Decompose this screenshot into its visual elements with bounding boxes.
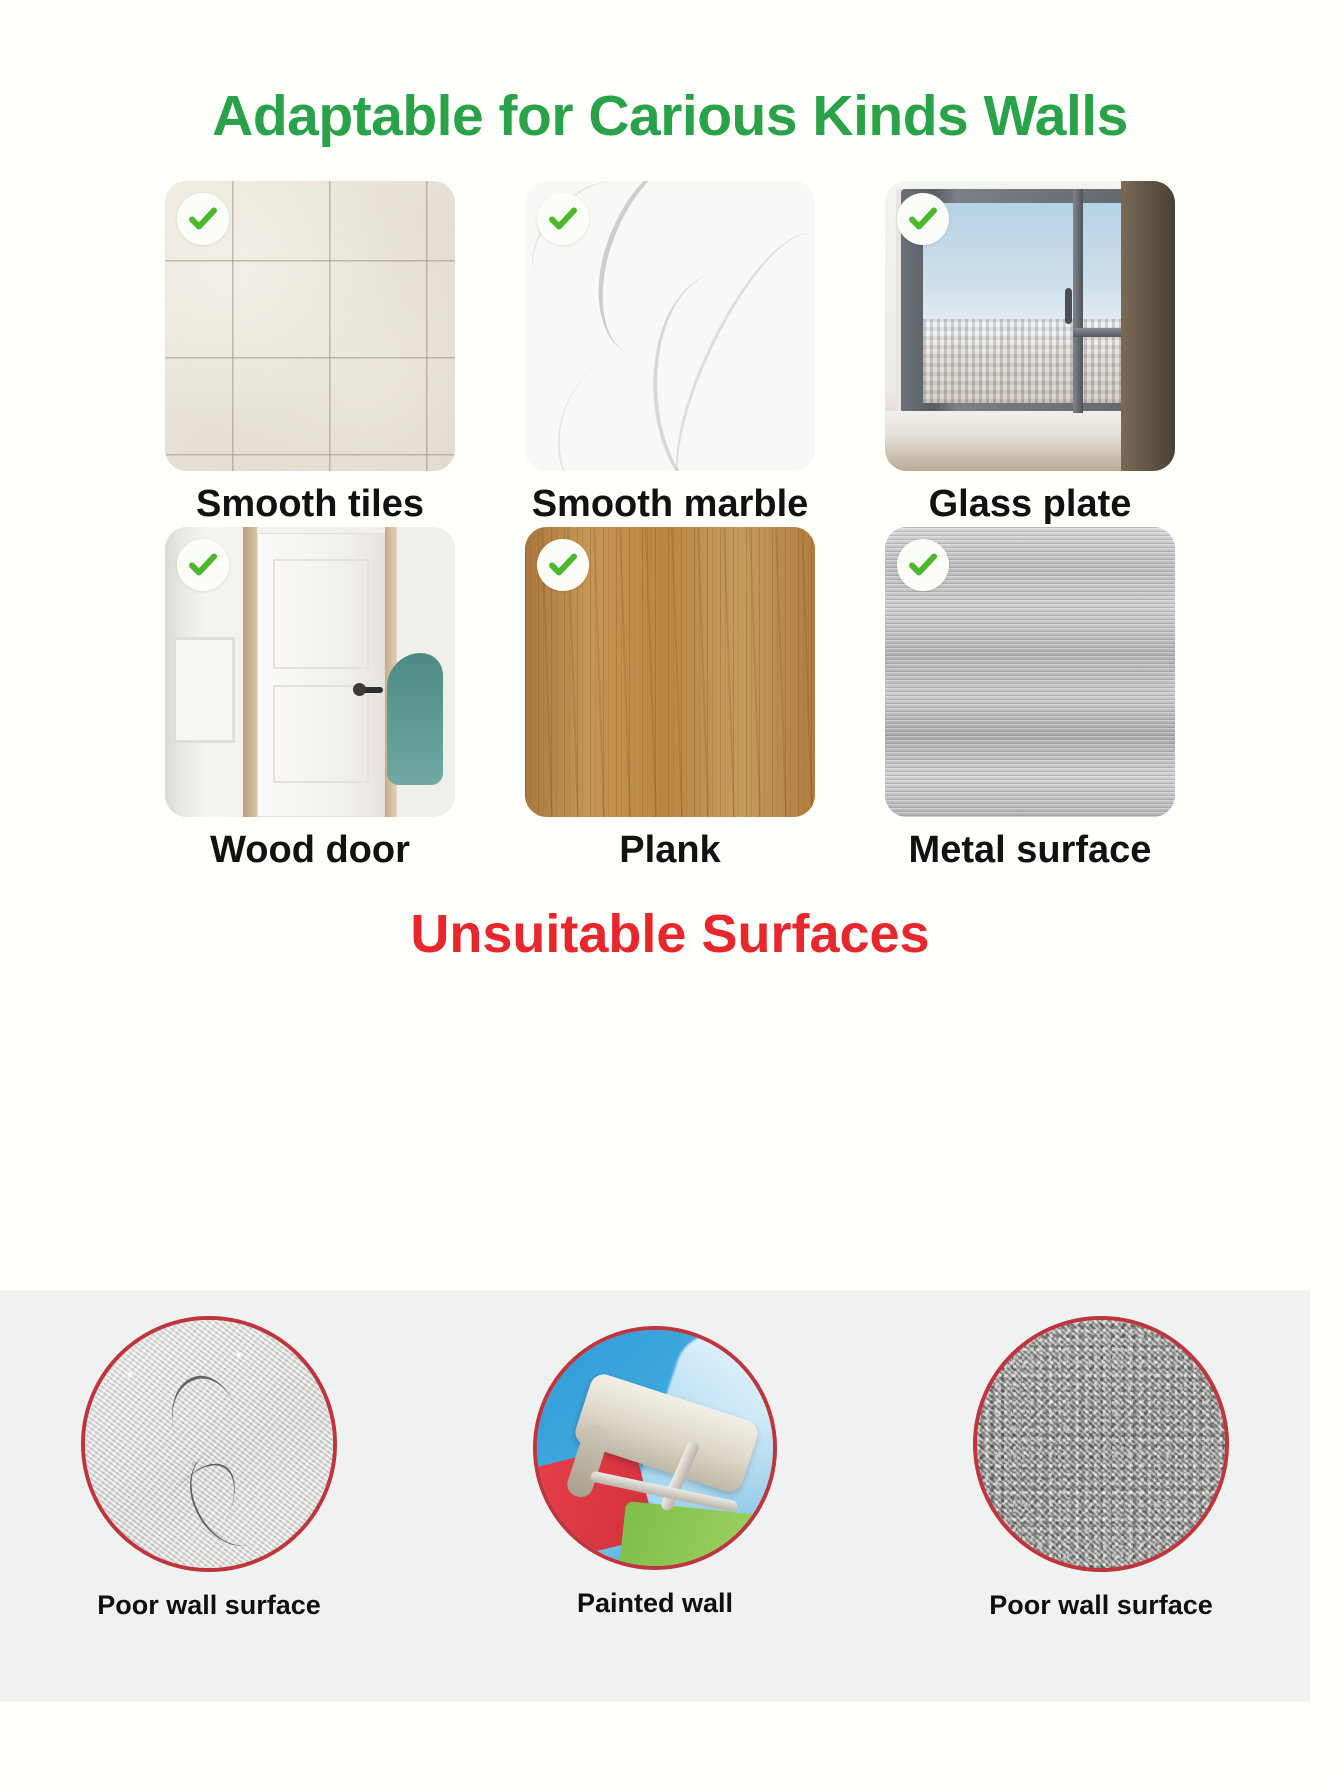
surface-card-metal-surface[interactable]: Metal surface xyxy=(850,527,1210,869)
surface-label: Metal surface xyxy=(909,831,1152,869)
unsuitable-heading: Unsuitable Surfaces xyxy=(0,869,1340,961)
surface-thumbnail-glass-plate xyxy=(885,181,1175,471)
check-icon xyxy=(537,193,589,245)
unsuitable-thumbnail-concrete xyxy=(973,1316,1229,1572)
check-icon xyxy=(177,193,229,245)
surface-label: Wood door xyxy=(210,831,410,869)
unsuitable-surfaces-panel: Poor wall surface Painted wall Poo xyxy=(0,1290,1310,1702)
unsuitable-card-poor-wall-surface-2[interactable]: Poor wall surface xyxy=(936,1290,1266,1702)
surface-card-smooth-marble[interactable]: Smooth marble xyxy=(490,181,850,523)
surface-card-wood-door[interactable]: Wood door xyxy=(130,527,490,869)
surface-thumbnail-plank xyxy=(525,527,815,817)
suitable-surfaces-grid: Smooth tiles Smooth marble xyxy=(130,145,1210,869)
surface-thumbnail-metal-surface xyxy=(885,527,1175,817)
surface-card-smooth-tiles[interactable]: Smooth tiles xyxy=(130,181,490,523)
surface-thumbnail-wood-door xyxy=(165,527,455,817)
unsuitable-label: Poor wall surface xyxy=(97,1592,321,1619)
surface-card-plank[interactable]: Plank xyxy=(490,527,850,869)
surface-label: Smooth marble xyxy=(532,485,809,523)
unsuitable-thumbnail-plaster xyxy=(81,1316,337,1572)
suitable-heading: Adaptable for Carious Kinds Walls xyxy=(0,0,1340,145)
unsuitable-thumbnail-paint-roller xyxy=(533,1326,777,1570)
surface-label: Glass plate xyxy=(929,485,1132,523)
unsuitable-card-poor-wall-surface-1[interactable]: Poor wall surface xyxy=(44,1290,374,1702)
surface-thumbnail-smooth-tiles xyxy=(165,181,455,471)
surface-label: Plank xyxy=(619,831,720,869)
unsuitable-card-painted-wall[interactable]: Painted wall xyxy=(490,1290,820,1702)
check-icon xyxy=(897,539,949,591)
unsuitable-label: Painted wall xyxy=(577,1590,733,1617)
surface-label: Smooth tiles xyxy=(196,485,424,523)
surface-card-glass-plate[interactable]: Glass plate xyxy=(850,181,1210,523)
check-icon xyxy=(897,193,949,245)
unsuitable-label: Poor wall surface xyxy=(989,1592,1213,1619)
check-icon xyxy=(537,539,589,591)
surface-thumbnail-smooth-marble xyxy=(525,181,815,471)
check-icon xyxy=(177,539,229,591)
